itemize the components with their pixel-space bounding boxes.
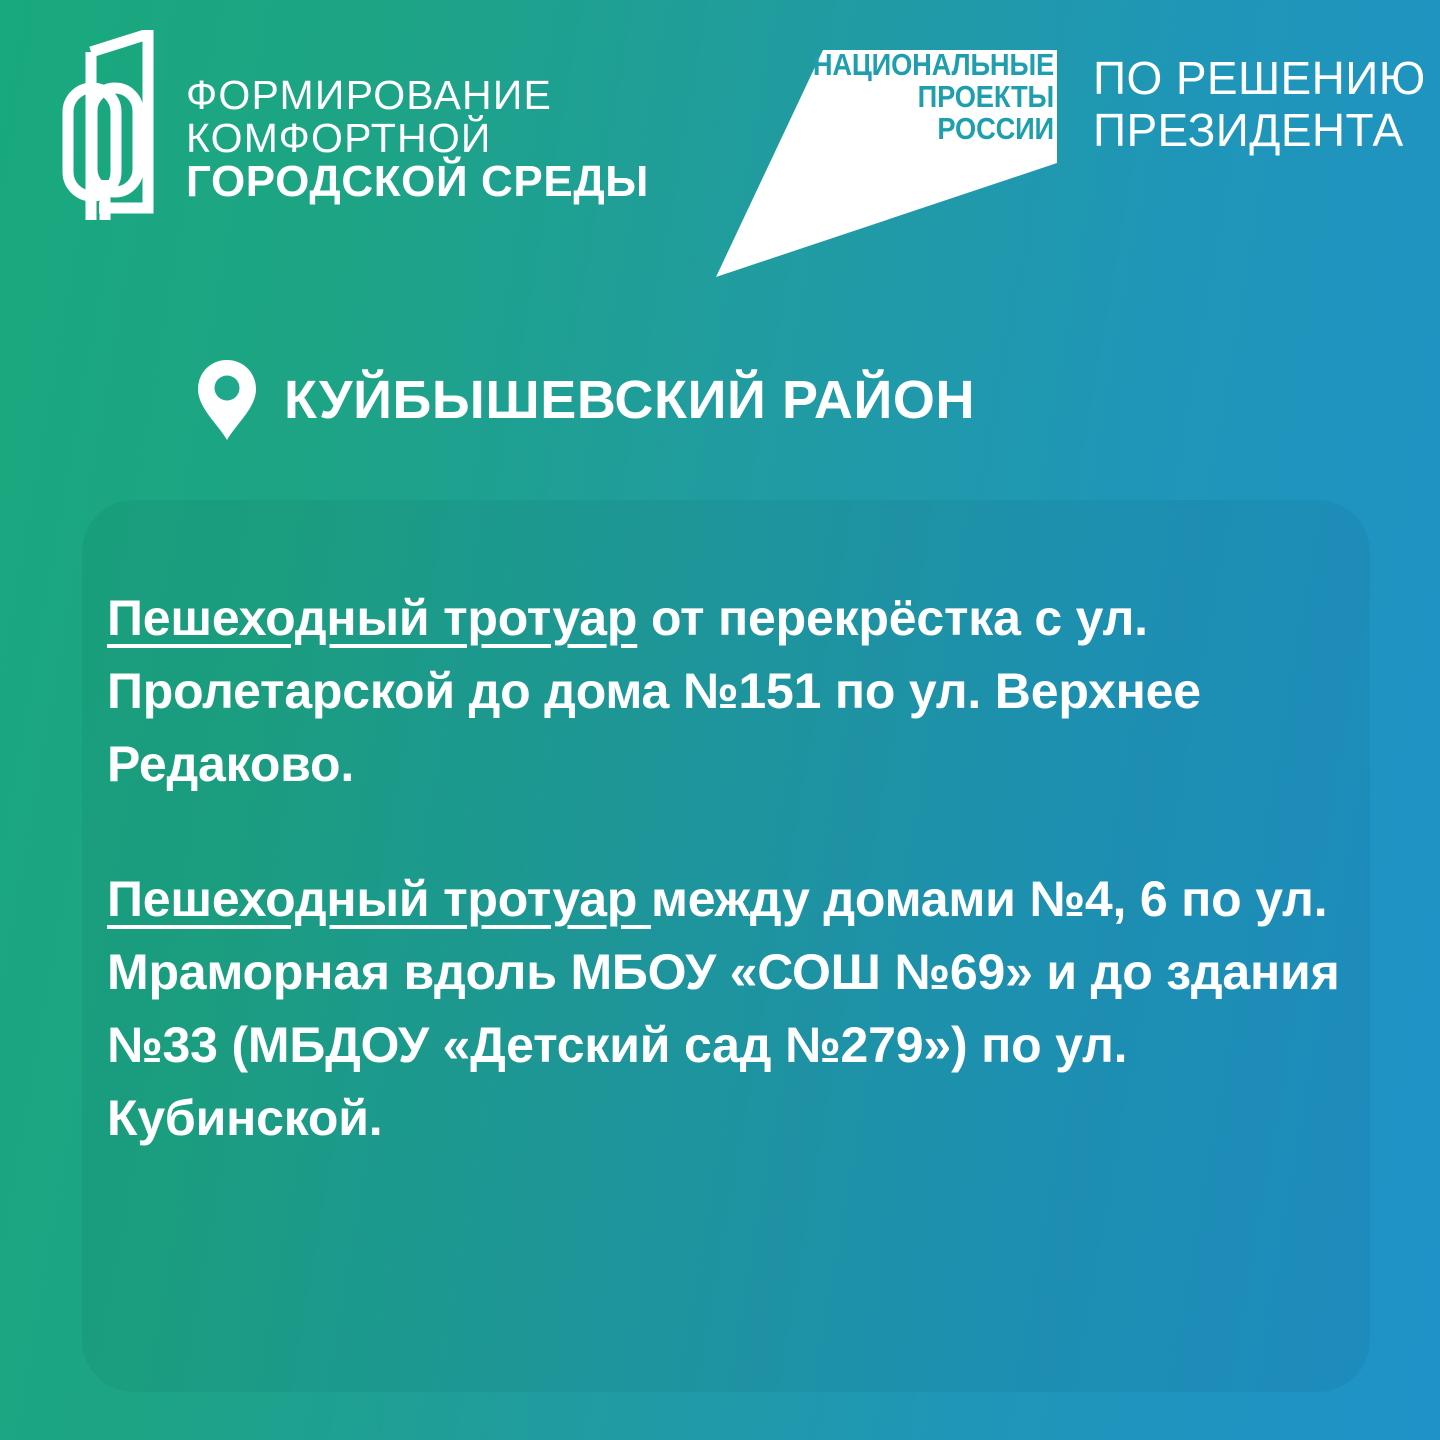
national-projects-logo: НАЦИОНАЛЬНЫЕ ПРОЕКТЫ РОССИИ — [700, 22, 1080, 302]
brand-line-3: ГОРОДСКОЙ СРЕДЫ — [186, 159, 649, 205]
president-slogan-line-1: ПО РЕШЕНИЮ — [1093, 52, 1426, 104]
district-heading: КУЙБЫШЕВСКИЙ РАЙОН — [196, 358, 975, 442]
content-list: Пешеходный тротуар от перекрёстка с ул. … — [107, 582, 1347, 1155]
president-slogan: ПО РЕШЕНИЮ ПРЕЗИДЕНТА — [1093, 52, 1426, 157]
brand-logo-wordmark: ФОРМИРОВАНИЕ КОМФОРТНОЙ ГОРОДСКОЙ СРЕДЫ — [186, 26, 649, 205]
brand-line-1: ФОРМИРОВАНИЕ — [186, 74, 649, 117]
national-projects-wordmark: НАЦИОНАЛЬНЫЕ ПРОЕКТЫ РОССИИ — [790, 49, 1054, 146]
np-line-1: НАЦИОНАЛЬНЫЕ — [790, 49, 1054, 81]
brand-line-2: КОМФОРТНОЙ — [186, 117, 649, 160]
list-item: Пешеходный тротуар между домами №4, 6 по… — [107, 863, 1347, 1155]
brand-logo: ФОРМИРОВАНИЕ КОМФОРТНОЙ ГОРОДСКОЙ СРЕДЫ — [58, 26, 649, 220]
page-title: КУЙБЫШЕВСКИЙ РАЙОН — [284, 369, 975, 431]
president-slogan-line-2: ПРЕЗИДЕНТА — [1093, 104, 1426, 156]
np-line-3: РОССИИ — [790, 113, 1054, 145]
window-facade-logo-icon — [58, 30, 162, 220]
list-item: Пешеходный тротуар от перекрёстка с ул. … — [107, 582, 1347, 801]
item-highlight: Пешеходный тротуар — [107, 590, 637, 646]
np-line-2: ПРОЕКТЫ — [790, 81, 1054, 113]
item-highlight: Пешеходный тротуар — [107, 871, 651, 927]
location-pin-icon — [196, 358, 258, 442]
poster-canvas: ФОРМИРОВАНИЕ КОМФОРТНОЙ ГОРОДСКОЙ СРЕДЫ … — [0, 0, 1440, 1440]
